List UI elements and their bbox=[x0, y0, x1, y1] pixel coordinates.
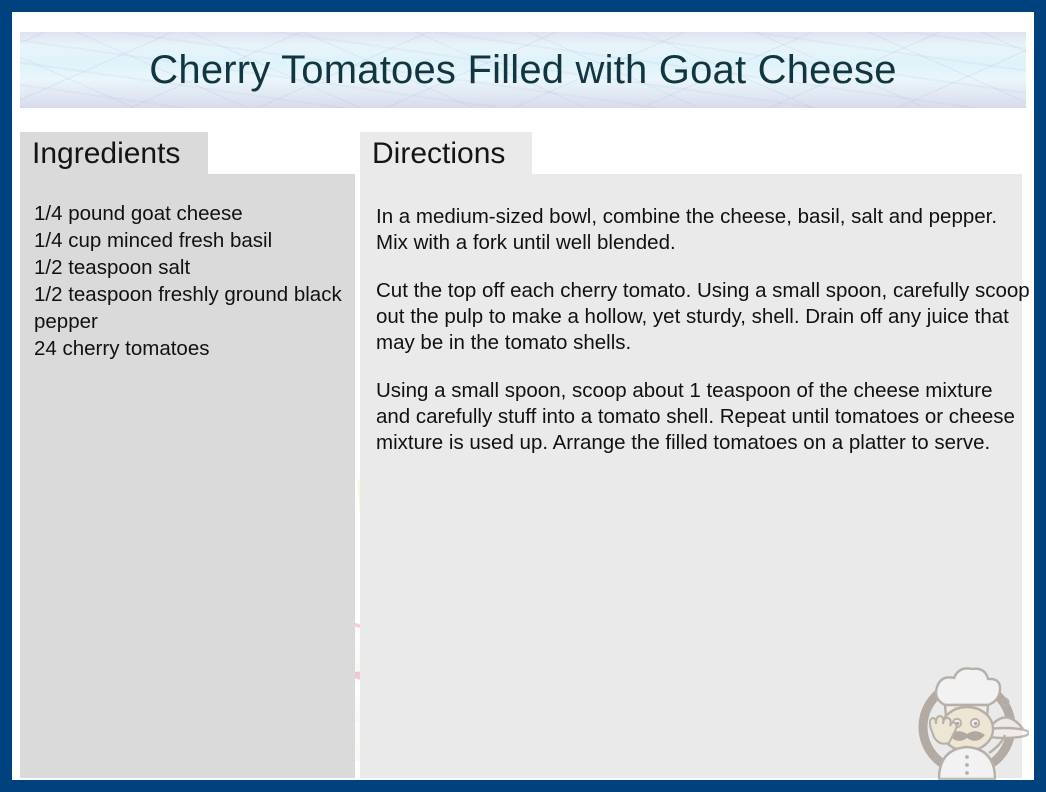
list-item: 1/4 pound goat cheese bbox=[34, 200, 364, 227]
slide-inner-mat: Cherry Tomatoes Filled with Goat Cheese bbox=[12, 12, 1034, 780]
recipe-slide: Cherry Tomatoes Filled with Goat Cheese bbox=[0, 0, 1046, 792]
list-item: 1/4 cup minced fresh basil bbox=[34, 227, 364, 254]
direction-paragraph: In a medium-sized bowl, combine the chee… bbox=[376, 204, 1032, 256]
direction-paragraph: Using a small spoon, scoop about 1 teasp… bbox=[376, 378, 1032, 456]
directions-heading: Directions bbox=[372, 139, 505, 169]
list-item: 1/2 teaspoon salt bbox=[34, 254, 364, 281]
ingredients-header-tab: Ingredients bbox=[20, 132, 208, 176]
list-item: 1/2 teaspoon freshly ground black pepper bbox=[34, 281, 364, 335]
directions-text: In a medium-sized bowl, combine the chee… bbox=[376, 204, 1032, 456]
ingredients-list: 1/4 pound goat cheese 1/4 cup minced fre… bbox=[34, 200, 364, 362]
ingredients-heading: Ingredients bbox=[32, 139, 180, 169]
title-banner: Cherry Tomatoes Filled with Goat Cheese bbox=[20, 32, 1026, 108]
directions-header-tab: Directions bbox=[360, 132, 532, 176]
list-item: 24 cherry tomatoes bbox=[34, 335, 364, 362]
page-title: Cherry Tomatoes Filled with Goat Cheese bbox=[149, 50, 896, 90]
direction-paragraph: Cut the top off each cherry tomato. Usin… bbox=[376, 278, 1032, 356]
